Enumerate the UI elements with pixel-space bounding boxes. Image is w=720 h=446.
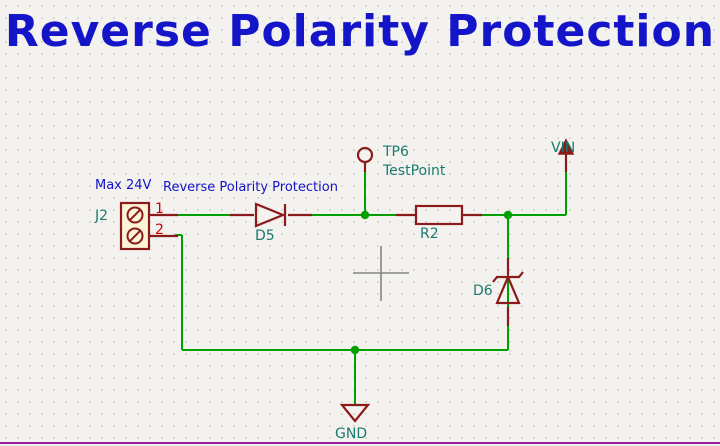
junction-tp6 bbox=[361, 211, 369, 219]
j2-pin-number-1: 1 bbox=[155, 201, 164, 217]
power-label-vin[interactable]: VIN bbox=[551, 140, 575, 156]
junction-vin bbox=[504, 211, 512, 219]
tp6-pad bbox=[358, 148, 372, 162]
annotation-block-note: Reverse Polarity Protection bbox=[163, 180, 338, 195]
component-value-tp6[interactable]: TestPoint bbox=[383, 163, 445, 179]
component-j2 bbox=[121, 203, 178, 249]
schematic-canvas[interactable]: Reverse Polarity Protection bbox=[0, 0, 720, 446]
component-ref-d5[interactable]: D5 bbox=[255, 228, 275, 244]
crosshair-cursor bbox=[353, 246, 409, 301]
wire-group bbox=[175, 172, 566, 405]
power-label-gnd[interactable]: GND bbox=[335, 426, 367, 442]
component-ref-j2[interactable]: J2 bbox=[95, 208, 108, 224]
power-port-gnd bbox=[342, 405, 368, 421]
junction-gnd bbox=[351, 346, 359, 354]
component-r2 bbox=[396, 206, 482, 224]
sheet-border-bottom bbox=[0, 442, 720, 444]
component-ref-tp6[interactable]: TP6 bbox=[383, 144, 409, 160]
component-tp6 bbox=[358, 148, 372, 172]
d5-triangle bbox=[256, 204, 283, 226]
j2-pin-number-2: 2 bbox=[155, 222, 164, 238]
r2-body bbox=[416, 206, 462, 224]
component-d5 bbox=[230, 204, 312, 226]
gnd-triangle bbox=[342, 405, 368, 421]
component-ref-d6[interactable]: D6 bbox=[473, 283, 493, 299]
component-ref-r2[interactable]: R2 bbox=[420, 226, 439, 242]
annotation-max-voltage: Max 24V bbox=[95, 178, 151, 193]
